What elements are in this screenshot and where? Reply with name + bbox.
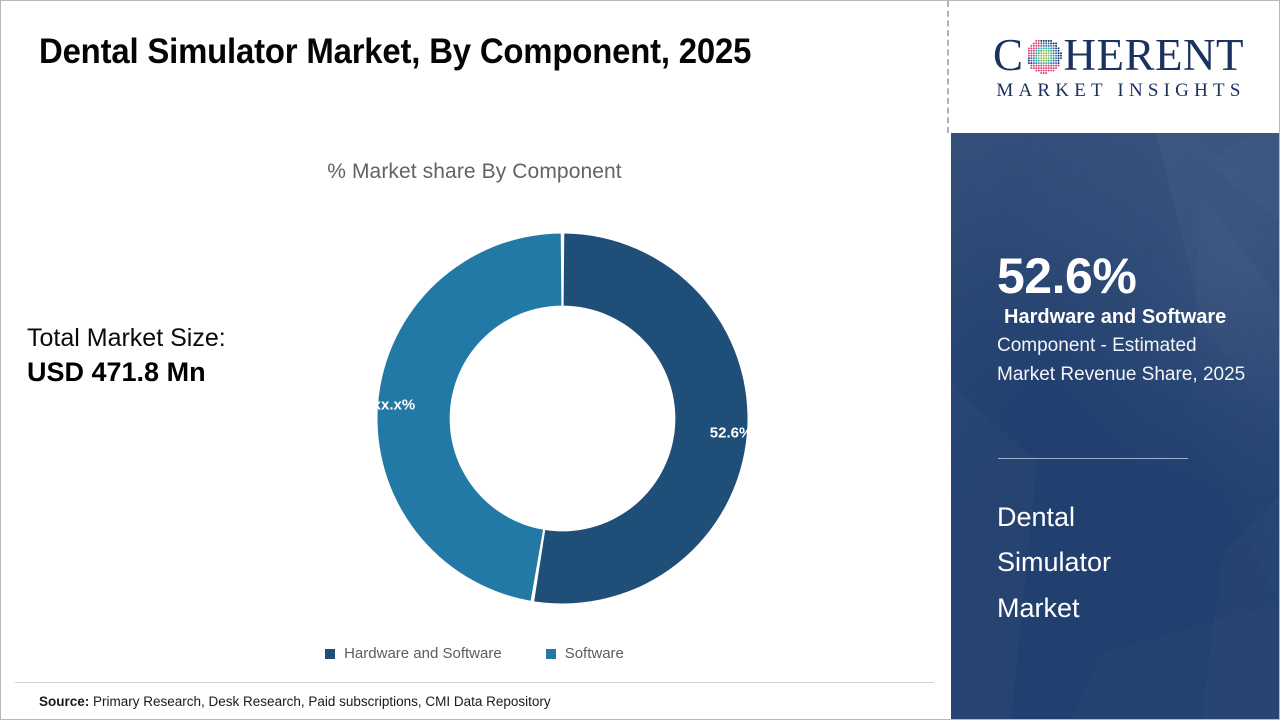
vertical-dashed-divider — [947, 1, 949, 133]
logo-letter-c: C — [993, 33, 1024, 78]
kpi-divider — [998, 458, 1188, 459]
kpi-description: Component - Estimated Market Revenue Sha… — [997, 331, 1259, 389]
legend-item[interactable]: Hardware and Software — [325, 645, 502, 662]
source-text: Primary Research, Desk Research, Paid su… — [89, 694, 550, 709]
chart-subtitle: % Market share By Component — [1, 160, 948, 184]
source-label: Source: — [39, 694, 89, 709]
donut-slice[interactable] — [377, 234, 561, 601]
logo-wordmark: C HERENT — [993, 33, 1244, 78]
legend-label: Hardware and Software — [344, 645, 502, 662]
source-note: Source: Primary Research, Desk Research,… — [39, 694, 551, 709]
donut-slice-label: 52.6% — [710, 424, 753, 441]
sidebar-market-name-line2: Simulator — [997, 540, 1257, 585]
sidebar-market-name-line3: Market — [997, 586, 1257, 631]
donut-slice[interactable] — [534, 234, 747, 604]
dotted-globe-icon — [1025, 37, 1063, 75]
company-logo: C HERENT MARKET INSIGHTS — [956, 2, 1280, 133]
kpi-block: 52.6% Hardware and Software Component - … — [997, 250, 1259, 389]
chart-legend: Hardware and SoftwareSoftware — [1, 645, 948, 662]
background-texture — [951, 133, 1280, 720]
total-market-size-value: USD 471.8 Mn — [27, 356, 226, 389]
sidebar-market-name-line1: Dental — [997, 495, 1257, 540]
sidebar-pane: C HERENT MARKET INSIGHTS — [950, 1, 1280, 720]
logo-tagline: MARKET INSIGHTS — [991, 80, 1245, 102]
legend-swatch-icon — [325, 649, 335, 659]
sidebar-market-name: Dental Simulator Market — [997, 495, 1257, 631]
donut-slice-group — [377, 234, 747, 604]
logo-letters-herent: HERENT — [1064, 33, 1244, 78]
source-divider — [15, 682, 934, 683]
total-market-size-block: Total Market Size: USD 471.8 Mn — [27, 323, 226, 388]
kpi-value: 52.6% — [997, 250, 1259, 303]
infographic-canvas: Dental Simulator Market, By Component, 2… — [0, 0, 1280, 720]
page-title: Dental Simulator Market, By Component, 2… — [39, 32, 751, 72]
legend-item[interactable]: Software — [546, 645, 624, 662]
kpi-subject: Hardware and Software — [997, 304, 1259, 330]
chart-pane: Dental Simulator Market, By Component, 2… — [1, 1, 948, 720]
sidebar-highlight-panel: 52.6% Hardware and Software Component - … — [951, 133, 1280, 720]
donut-chart-svg: 52.6%xx.x% — [370, 226, 755, 611]
legend-label: Software — [565, 645, 624, 662]
legend-swatch-icon — [546, 649, 556, 659]
total-market-size-label: Total Market Size: — [27, 323, 226, 354]
donut-slice-label: xx.x% — [373, 397, 416, 414]
donut-chart: 52.6%xx.x% — [370, 226, 755, 611]
